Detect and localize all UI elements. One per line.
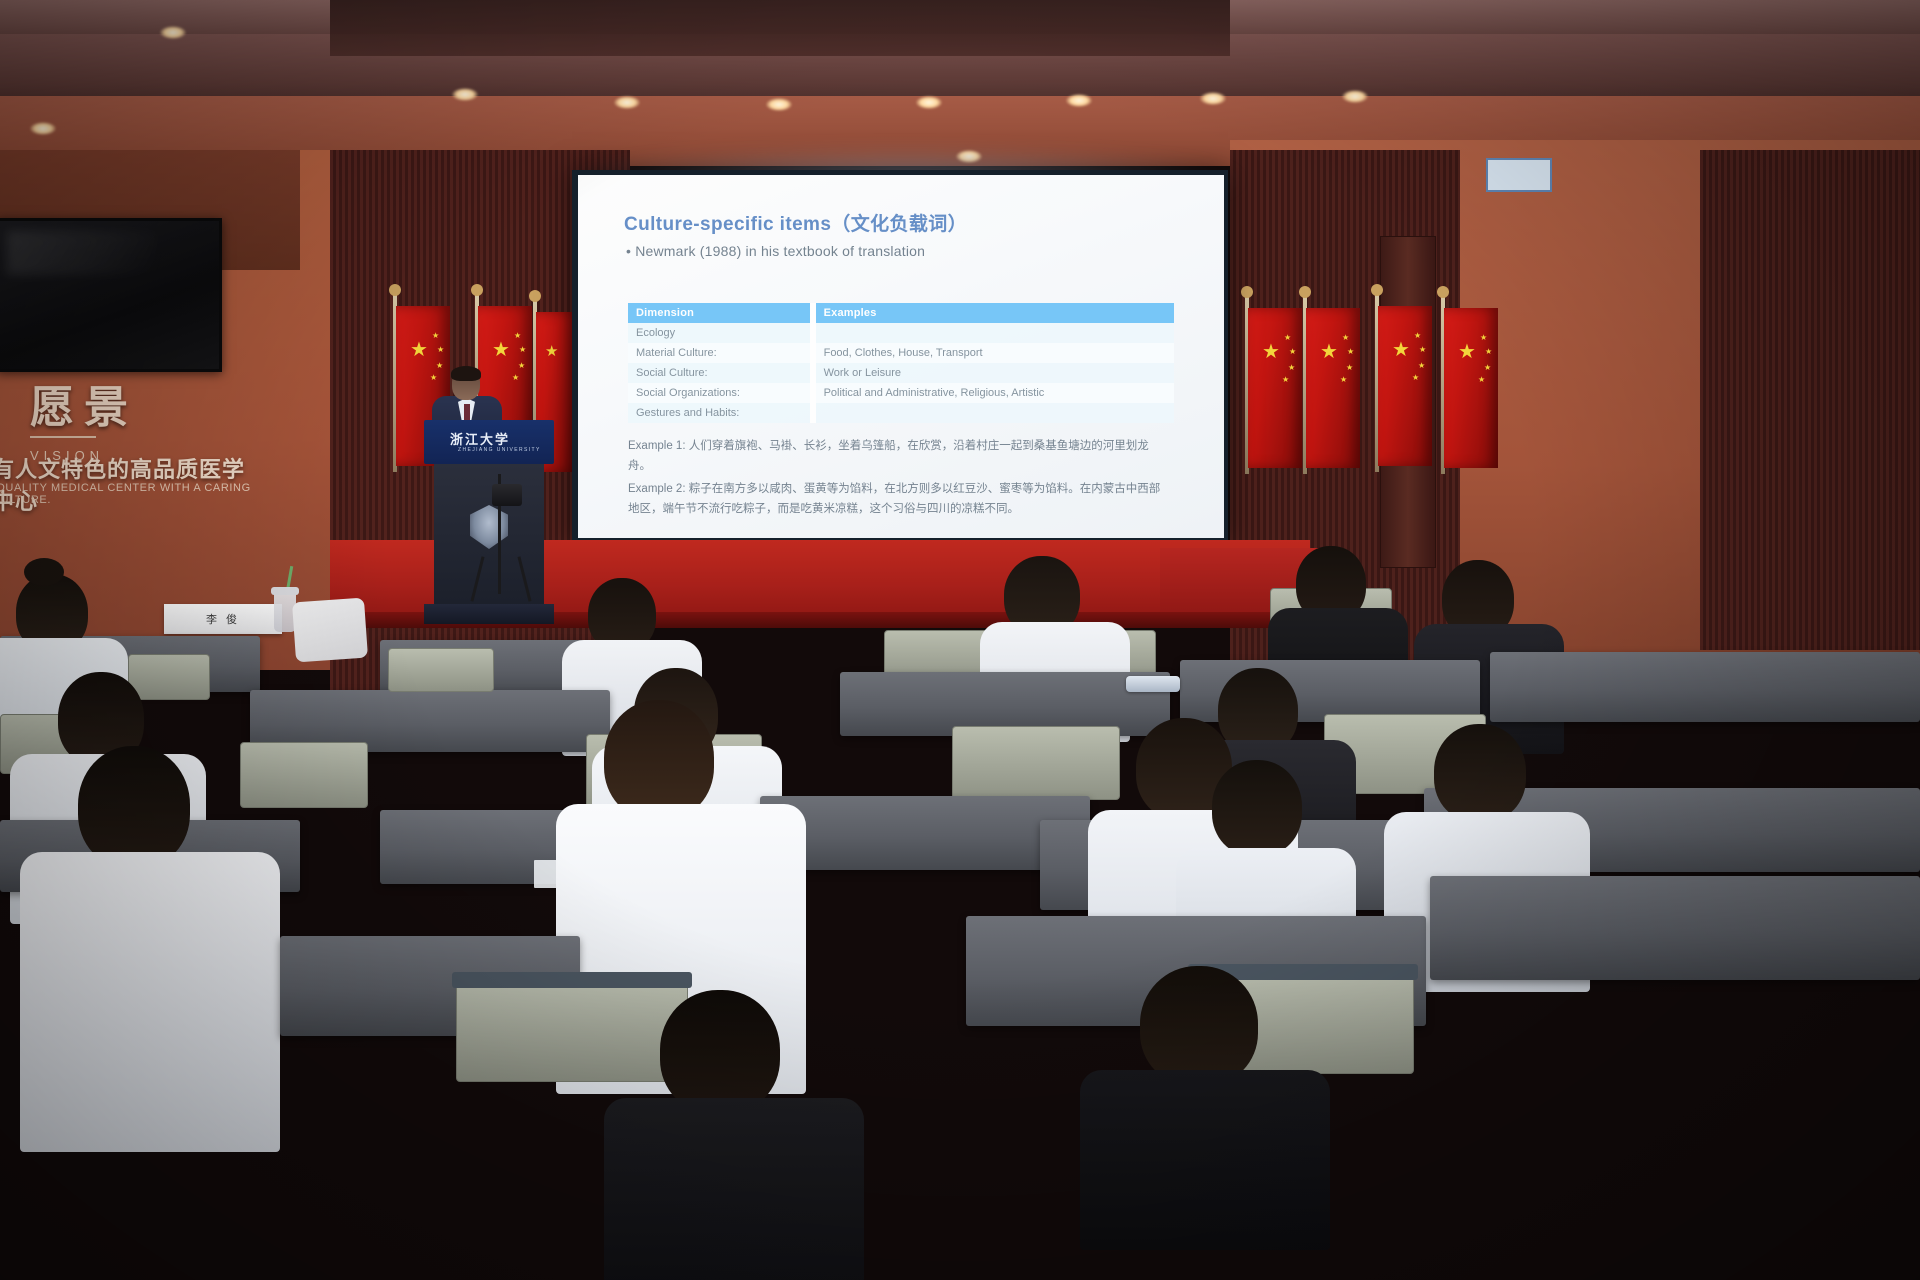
lectern-base [424,604,554,624]
slide-title: Culture-specific items（文化负载词） [624,209,967,236]
flag-cloth: ★ ★ ★ ★ ★ [1248,308,1302,468]
slide-table: Dimension Examples Ecology Material Cult… [628,303,1174,423]
cell-dimension: Material Culture: [628,343,810,363]
camera [492,484,522,506]
lectern-panel: 浙江大学 ZHEJIANG UNIVERSITY [424,420,554,464]
ceiling-light [160,26,186,39]
cell-dimension: Gestures and Habits: [628,403,810,423]
flag-star-icon: ★ [436,362,443,370]
national-flag: ★ ★ ★ ★ ★ [1378,306,1432,466]
projection-screen: Culture-specific items（文化负载词） • Newmark … [578,175,1224,538]
cell-examples: Political and Administrative, Religious,… [816,383,1174,403]
flag-star-icon: ★ [518,362,525,370]
flag-star-icon: ★ [514,332,521,340]
flag-star-icon: ★ [1284,334,1291,342]
flag-star-icon: ★ [1414,332,1421,340]
cell-dimension: Social Culture: [628,363,810,383]
name-plate: 李 俊 [164,604,282,634]
flag-star-icon: ★ [492,340,510,360]
flag-star-icon: ★ [1418,362,1425,370]
flag-star-icon: ★ [1484,364,1491,372]
person-body [1080,1070,1330,1250]
flag-star-icon: ★ [430,374,437,382]
wall-wood-far-right [1700,150,1920,650]
ceiling-recess [330,0,1230,56]
flag-star-icon: ★ [410,340,428,360]
flag-finial [1241,286,1253,298]
ceiling-light [1342,90,1368,103]
person-body [20,852,280,1152]
university-name-en: ZHEJIANG UNIVERSITY [458,447,541,453]
table-row: Social Organizations: Political and Admi… [628,383,1174,403]
cell-examples: Food, Clothes, House, Transport [816,343,1174,363]
cell-dimension: Ecology [628,323,810,343]
person-head [604,700,714,820]
flag-star-icon: ★ [1347,348,1354,356]
name-plate-text: 李 俊 [164,604,282,627]
cell-examples: Work or Leisure [816,363,1174,383]
chair-back [128,654,210,700]
ceiling-light [766,98,792,111]
speaker-hair [451,366,481,381]
tablet [1126,676,1180,692]
example-1: Example 1: 人们穿着旗袍、马褂、长衫，坐着乌篷船，在欣赏，沿着村庄一起… [628,437,1168,476]
flag-star-icon: ★ [1320,342,1338,362]
flag-star-icon: ★ [1458,342,1476,362]
person-head [78,746,190,868]
ceiling-light [1066,94,1092,107]
flag-star-icon: ★ [1478,376,1485,384]
vision-divider [30,436,96,438]
wall-display [0,218,222,372]
chair-back [240,742,368,808]
flag-star-icon: ★ [1342,334,1349,342]
table-header-dimension: Dimension [628,303,810,323]
cell-examples [816,403,1174,423]
flag-finial [471,284,483,296]
flag-star-icon: ★ [437,346,444,354]
person-hair-bun [24,558,64,586]
wall-sign [1486,158,1552,192]
flag-star-icon: ★ [1480,334,1487,342]
example-2: Example 2: 粽子在南方多以咸肉、蛋黄等为馅料，在北方则多以红豆沙、蜜枣… [628,480,1168,519]
flag-finial [529,290,541,302]
national-flag: ★ ★ ★ ★ ★ [1444,308,1498,468]
flag-star-icon: ★ [1282,376,1289,384]
flag-star-icon: ★ [1288,364,1295,372]
chair-back [388,648,494,692]
person-head [660,990,780,1114]
presentation-slide: Culture-specific items（文化负载词） • Newmark … [578,175,1224,538]
person-body [604,1098,864,1280]
slide-bullet: • Newmark (1988) in his textbook of tran… [626,243,925,259]
flag-star-icon: ★ [1346,364,1353,372]
table-header-examples: Examples [816,303,1174,323]
university-name-cn: 浙江大学 [450,429,510,448]
person-head [1212,760,1302,856]
table-row: Ecology [628,323,1174,343]
flag-finial [1371,284,1383,296]
table-header-row: Dimension Examples [628,303,1174,323]
lecture-hall-photo: 愿景 VISION 有人文特色的高品质医学中心 -QUALITY MEDICAL… [0,0,1920,1280]
flag-cloth: ★ ★ ★ ★ ★ [1378,306,1432,466]
table-row: Material Culture: Food, Clothes, House, … [628,343,1174,363]
vision-title-cn: 愿景 [30,386,280,430]
flag-star-icon: ★ [1392,340,1410,360]
flag-star-icon: ★ [432,332,439,340]
chair-back [952,726,1120,800]
flag-star-icon: ★ [1485,348,1492,356]
table-row: Social Culture: Work or Leisure [628,363,1174,383]
desk-row [1490,652,1920,722]
table-row: Gestures and Habits: [628,403,1174,423]
ceiling-light [1200,92,1226,105]
mission-text-en: -QUALITY MEDICAL CENTER WITH A CARING CU… [0,482,260,506]
flag-star-icon: ★ [1262,342,1280,362]
slide-examples: Example 1: 人们穿着旗袍、马褂、长衫，坐着乌篷船，在欣赏，沿着村庄一起… [628,437,1168,523]
flag-star-icon: ★ [545,344,558,359]
flag-cloth: ★ ★ ★ ★ ★ [1444,308,1498,468]
ceiling-light [30,122,56,135]
ceiling-light [614,96,640,109]
national-flag: ★ ★ ★ ★ ★ [1306,308,1360,468]
flag-star-icon: ★ [519,346,526,354]
flag-cloth: ★ ★ ★ ★ ★ [1306,308,1360,468]
cell-dimension: Social Organizations: [628,383,810,403]
flag-star-icon: ★ [1289,348,1296,356]
flag-star-icon: ★ [1419,346,1426,354]
flag-finial [1299,286,1311,298]
tripod [474,556,528,602]
national-flag: ★ ★ ★ ★ ★ [1248,308,1302,468]
flag-star-icon: ★ [1340,376,1347,384]
person-head [1140,966,1258,1086]
ceiling-light [916,96,942,109]
flag-finial [1437,286,1449,298]
cell-examples [816,323,1174,343]
white-bag [292,598,368,663]
person-head [1434,724,1526,822]
chair-rail [452,972,692,988]
display-glare [7,231,157,275]
flag-finial [389,284,401,296]
flag-star-icon: ★ [1412,374,1419,382]
desk-row [1430,876,1920,980]
flag-star-icon: ★ [512,374,519,382]
cup-lid [271,587,299,595]
chair-back [456,980,688,1082]
ceiling-light [452,88,478,101]
